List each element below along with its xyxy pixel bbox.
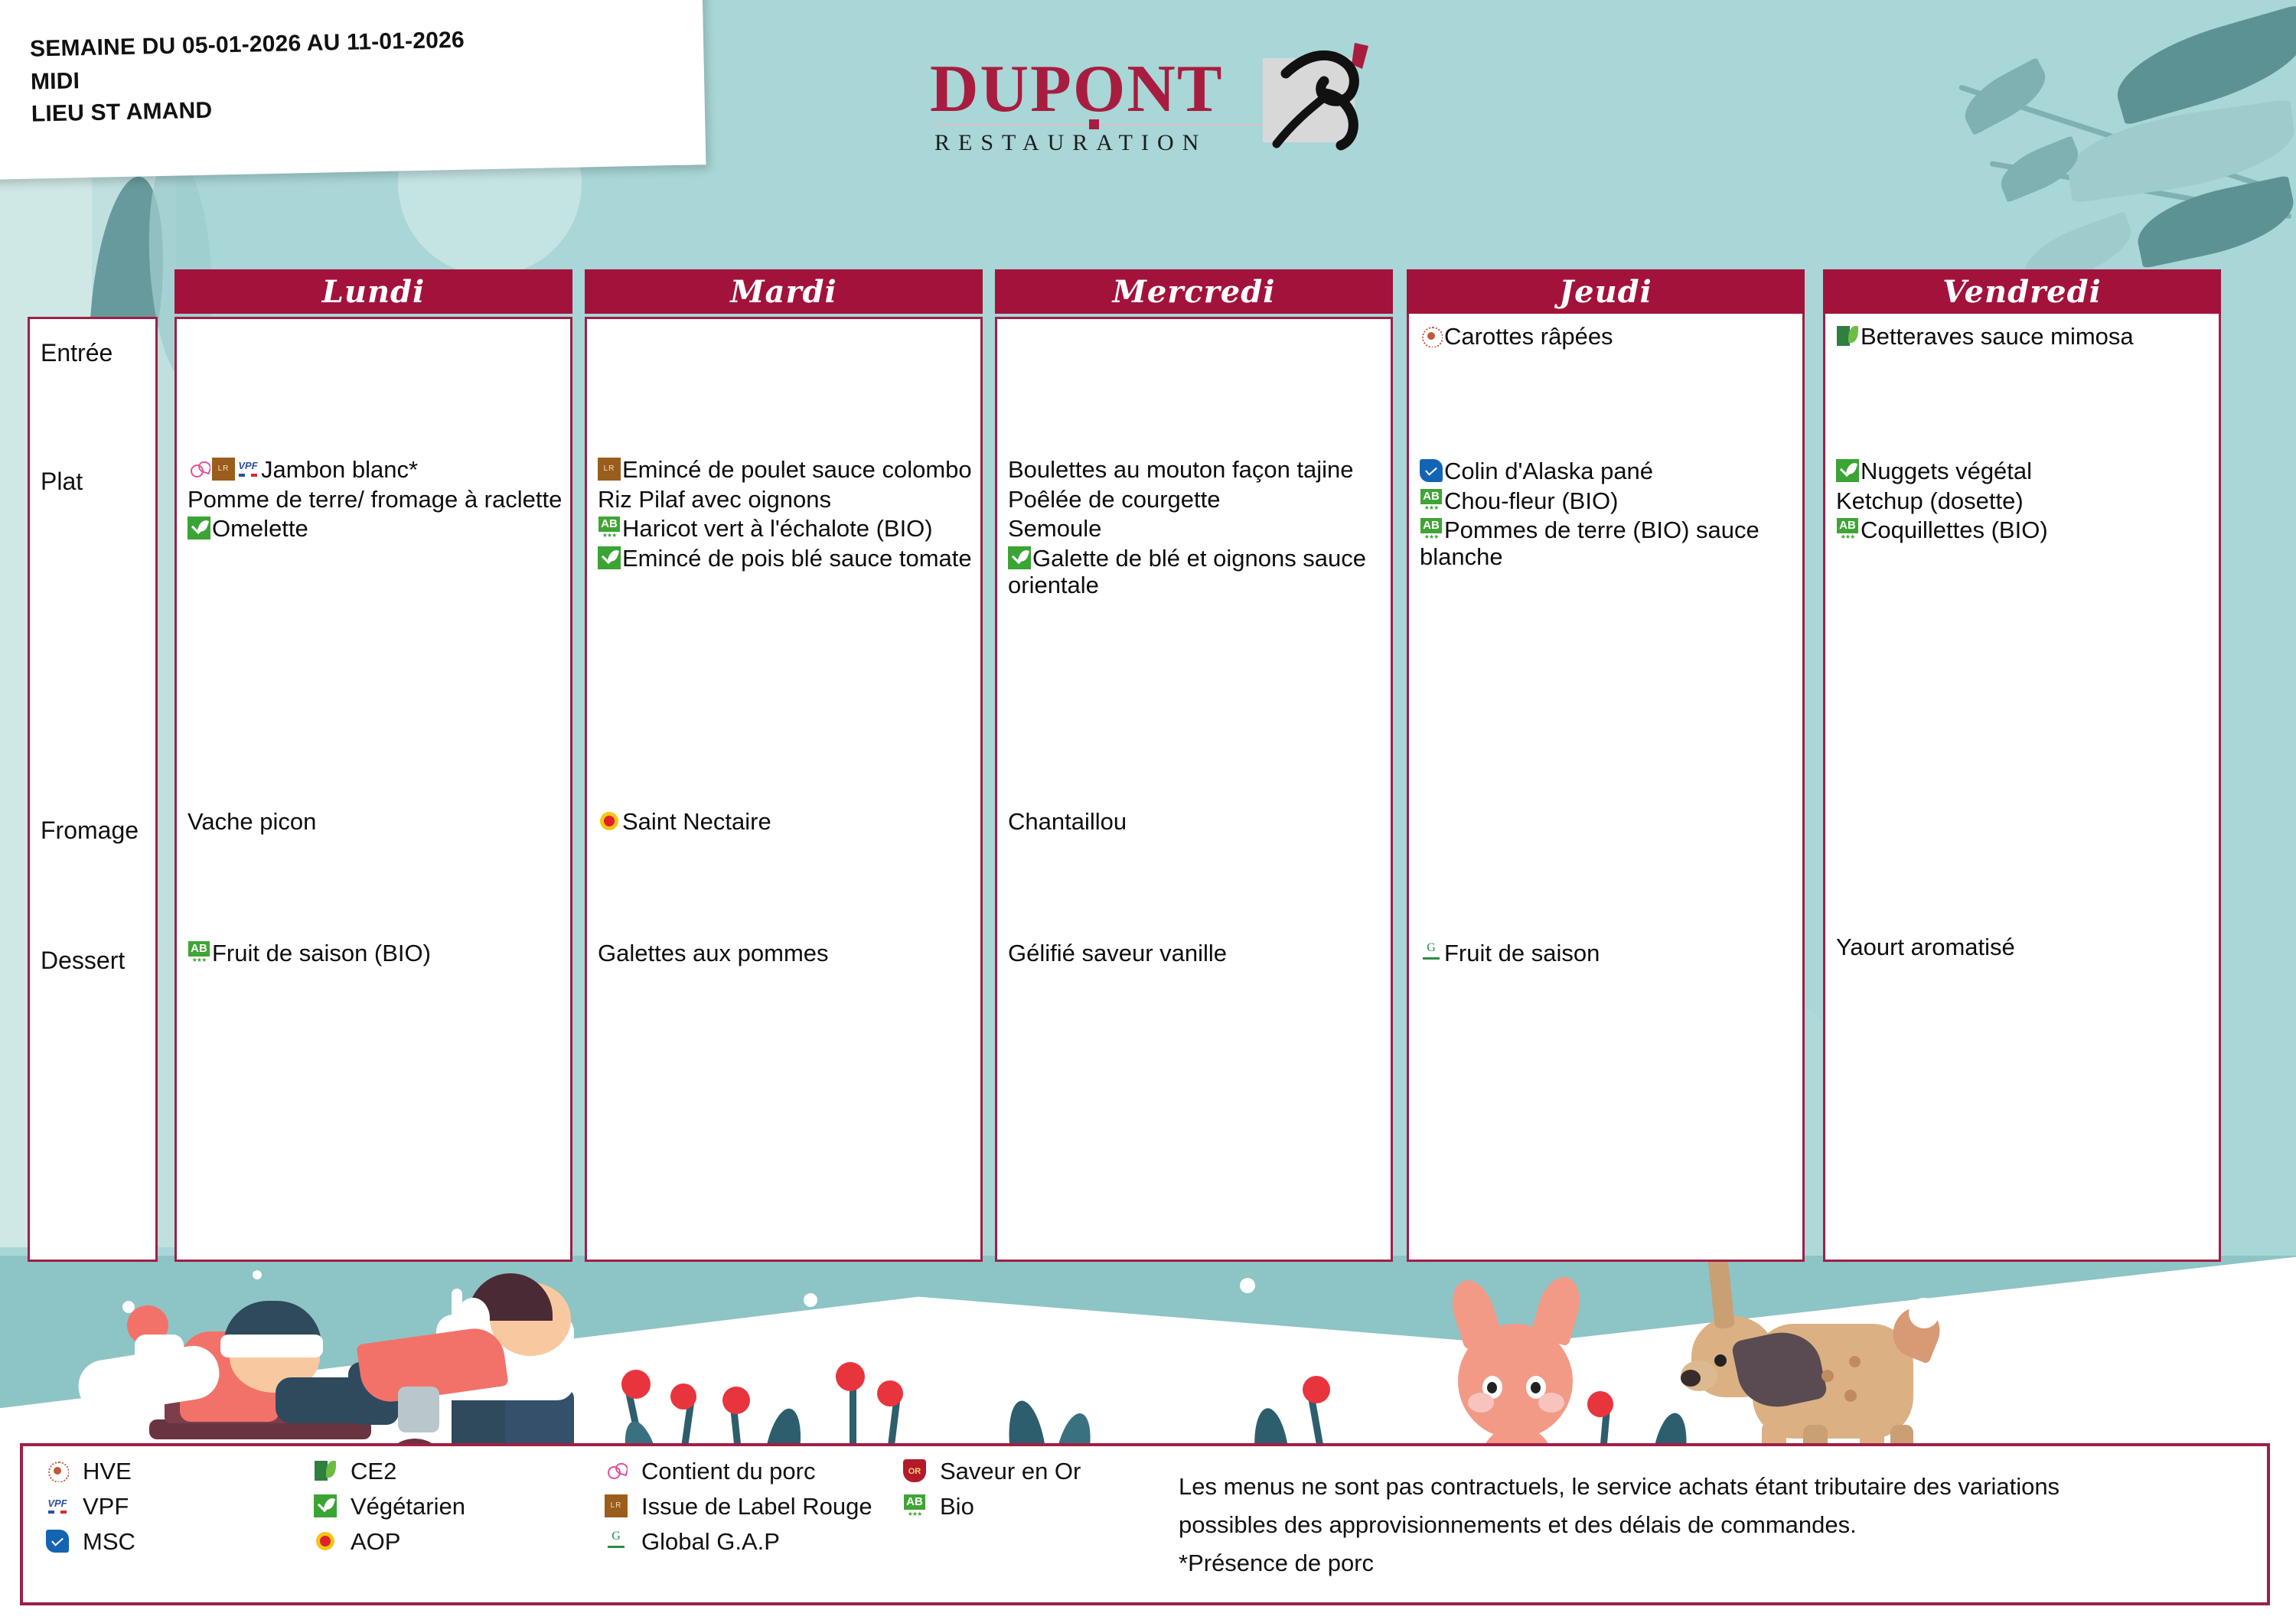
- legend-column-4: Saveur en OrBio: [903, 1457, 1156, 1527]
- vpf-icon: [236, 458, 259, 481]
- msc-icon: [1420, 459, 1443, 482]
- dish-label: Riz Pilaf avec oignons: [598, 486, 831, 513]
- bio-icon: [1836, 518, 1859, 541]
- day-header-label: Mercredi: [1113, 274, 1276, 310]
- dish-label: Fruit de saison (BIO): [212, 940, 431, 966]
- legend-label: Bio: [940, 1492, 974, 1521]
- menu-poster: SEMAINE DU 05-01-2026 AU 11-01-2026 MIDI…: [0, 0, 2296, 1623]
- dish-label: Galettes aux pommes: [598, 940, 829, 966]
- dish-label: Jambon blanc*: [261, 456, 418, 483]
- legend-row: Végétarien: [314, 1492, 605, 1521]
- msc-icon: [46, 1530, 69, 1553]
- dish-item: Fruit de saison (BIO): [188, 940, 563, 967]
- hve-icon: [1420, 324, 1443, 347]
- dish-item: Carottes râpées: [1420, 324, 1795, 350]
- dish-label: Semoule: [1008, 515, 1101, 542]
- day-column-lundi: Jambon blanc*Pomme de terre/ fromage à r…: [174, 317, 572, 1262]
- bio-icon: [1420, 489, 1443, 512]
- legend-row: Contient du porc: [605, 1457, 911, 1486]
- section-dessert: Fruit de saison (BIO): [188, 940, 563, 970]
- section-dessert: Galettes aux pommes: [598, 940, 973, 970]
- section-plat: Colin d'Alaska panéChou-fleur (BIO)Pomme…: [1420, 458, 1795, 574]
- section-plat: Jambon blanc*Pomme de terre/ fromage à r…: [188, 457, 563, 546]
- dish-label: Vache picon: [188, 808, 316, 835]
- dish-label: Coquillettes (BIO): [1861, 517, 2048, 543]
- legend-label: MSC: [83, 1527, 135, 1556]
- dish-label: Colin d'Alaska pané: [1444, 458, 1653, 484]
- legend-label: HVE: [83, 1457, 132, 1486]
- day-header-label: Mardi: [730, 274, 837, 310]
- dish-item: Emincé de poulet sauce colombo: [598, 457, 973, 484]
- row-label-dessert: Dessert: [41, 947, 125, 975]
- ce2-icon: [1836, 324, 1859, 347]
- dish-item: Saint Nectaire: [598, 809, 973, 836]
- day-header-mardi: Mardi: [585, 269, 983, 314]
- logo-runner-icon: [1240, 38, 1385, 153]
- dish-item: Haricot vert à l'échalote (BIO): [598, 516, 973, 543]
- dish-label: Ketchup (dosette): [1836, 487, 2024, 514]
- legend-row: Saveur en Or: [903, 1457, 1156, 1486]
- dish-label: Chantaillou: [1008, 808, 1127, 835]
- dish-item: Betteraves sauce mimosa: [1836, 324, 2211, 350]
- dish-label: Chou-fleur (BIO): [1444, 487, 1618, 514]
- day-header-vendredi: Vendredi: [1823, 269, 2221, 314]
- section-fromage: Vache picon: [188, 809, 563, 839]
- logo-dot: [1089, 119, 1099, 129]
- legend-column-3: Contient du porcIssue de Label RougeGlob…: [605, 1457, 911, 1562]
- dish-item: Pomme de terre/ fromage à raclette: [188, 487, 563, 513]
- dish-label: Nuggets végétal: [1861, 458, 2032, 484]
- disclaimer-text: Les menus ne sont pas contractuels, le s…: [1179, 1468, 2250, 1583]
- dish-item: Ketchup (dosette): [1836, 488, 2211, 515]
- section-entree: Betteraves sauce mimosa: [1836, 324, 2211, 354]
- vegetarien-icon: [1836, 459, 1859, 482]
- global-gap-icon: [605, 1530, 628, 1553]
- legend-row: AOP: [314, 1527, 605, 1556]
- dish-label: Betteraves sauce mimosa: [1861, 323, 2134, 350]
- section-dessert: Gélifié saveur vanille: [1008, 940, 1383, 970]
- disclaimer-line-2: possibles des approvisionnements et des …: [1179, 1506, 2250, 1544]
- dish-label: Carottes râpées: [1444, 323, 1613, 350]
- ce2-icon: [314, 1459, 337, 1482]
- global-gap-icon: [1420, 941, 1443, 964]
- legend-row: CE2: [314, 1457, 605, 1486]
- day-header-label: Lundi: [322, 274, 425, 310]
- day-header-jeudi: Jeudi: [1407, 269, 1805, 314]
- dish-label: Fruit de saison: [1444, 940, 1600, 966]
- legend-label: VPF: [83, 1492, 129, 1521]
- legend-label: Global G.A.P: [641, 1527, 780, 1556]
- dish-item: Chou-fleur (BIO): [1420, 488, 1795, 515]
- dish-label: Yaourt aromatisé: [1836, 934, 2015, 960]
- legend-row: VPF: [46, 1492, 298, 1521]
- dish-item: Chantaillou: [1008, 809, 1383, 836]
- bio-icon: [1420, 518, 1443, 541]
- section-dessert: Fruit de saison: [1420, 940, 1795, 970]
- legend-column-2: CE2VégétarienAOP: [314, 1457, 605, 1562]
- legend-label: AOP: [351, 1527, 400, 1556]
- dish-label: Pomme de terre/ fromage à raclette: [188, 486, 562, 513]
- bio-icon: [903, 1494, 926, 1517]
- section-plat: Boulettes au mouton façon tajinePoêlée d…: [1008, 457, 1383, 602]
- label-rouge-icon: [605, 1494, 628, 1517]
- dish-label: Galette de blé et oignons sauce oriental…: [1008, 545, 1366, 598]
- logo-divider: [934, 124, 1264, 125]
- day-column-jeudi: Carottes râpées Colin d'Alaska panéChou-…: [1407, 311, 1805, 1262]
- section-dessert: Yaourt aromatisé: [1836, 934, 2211, 964]
- day-header-label: Vendredi: [1942, 274, 2102, 310]
- dupont-restauration-logo: DUPONT RESTAURATION: [930, 44, 1389, 152]
- row-label-column: Entrée Plat Fromage Dessert: [28, 317, 158, 1262]
- legend-label: CE2: [351, 1457, 396, 1486]
- porc-icon: [605, 1459, 628, 1482]
- legend-label: Contient du porc: [641, 1457, 815, 1486]
- day-header-lundi: Lundi: [174, 269, 572, 314]
- vpf-icon: [46, 1494, 69, 1517]
- dish-item: Jambon blanc*: [188, 457, 563, 484]
- section-fromage: Chantaillou: [1008, 809, 1383, 839]
- dish-item: Pommes de terre (BIO) sauce blanche: [1420, 517, 1795, 570]
- legend-row: Bio: [903, 1492, 1156, 1521]
- disclaimer-line-1: Les menus ne sont pas contractuels, le s…: [1179, 1468, 2250, 1506]
- vegetarien-icon: [598, 546, 621, 569]
- dish-item: Colin d'Alaska pané: [1420, 458, 1795, 485]
- day-column-vendredi: Betteraves sauce mimosa Nuggets végétalK…: [1823, 311, 2221, 1262]
- dish-label: Emincé de pois blé sauce tomate: [622, 545, 972, 572]
- day-header-mercredi: Mercredi: [995, 269, 1393, 314]
- aop-icon: [314, 1530, 337, 1553]
- aop-icon: [598, 810, 621, 833]
- legend-panel: HVEVPFMSC CE2VégétarienAOP Contient du p…: [20, 1443, 2270, 1605]
- title-card: SEMAINE DU 05-01-2026 AU 11-01-2026 MIDI…: [0, 0, 706, 180]
- logo-subtitle: RESTAURATION: [934, 130, 1207, 156]
- vegetarien-icon: [1008, 546, 1031, 569]
- legend-label: Végétarien: [351, 1492, 465, 1521]
- dish-item: Fruit de saison: [1420, 940, 1795, 967]
- row-label-plat: Plat: [41, 468, 83, 496]
- bio-icon: [598, 517, 621, 539]
- legend-row: Global G.A.P: [605, 1527, 911, 1556]
- dish-item: Omelette: [188, 516, 563, 543]
- hve-icon: [46, 1459, 69, 1482]
- saveur-en-or-icon: [903, 1459, 926, 1482]
- section-fromage: Saint Nectaire: [598, 809, 973, 839]
- vegetarien-icon: [188, 517, 210, 539]
- dish-item: Poêlée de courgette: [1008, 487, 1383, 513]
- dish-label: Pommes de terre (BIO) sauce blanche: [1420, 517, 1760, 570]
- dish-label: Gélifié saveur vanille: [1008, 940, 1227, 966]
- dish-label: Saint Nectaire: [622, 808, 771, 835]
- dish-label: Emincé de poulet sauce colombo: [622, 456, 972, 483]
- legend-row: MSC: [46, 1527, 298, 1556]
- section-plat: Emincé de poulet sauce colomboRiz Pilaf …: [598, 457, 973, 575]
- row-label-fromage: Fromage: [41, 816, 139, 845]
- label-rouge-icon: [212, 458, 235, 481]
- dish-item: Riz Pilaf avec oignons: [598, 487, 973, 513]
- logo-wordmark: DUPONT: [930, 51, 1224, 128]
- dish-item: Boulettes au mouton façon tajine: [1008, 457, 1383, 484]
- label-rouge-icon: [598, 458, 621, 481]
- day-header-label: Jeudi: [1559, 274, 1652, 310]
- legend-column-1: HVEVPFMSC: [46, 1457, 298, 1562]
- section-entree: Carottes râpées: [1420, 324, 1795, 354]
- dish-item: Semoule: [1008, 516, 1383, 543]
- dish-item: Yaourt aromatisé: [1836, 934, 2211, 961]
- title-text-block: SEMAINE DU 05-01-2026 AU 11-01-2026 MIDI…: [30, 24, 466, 132]
- legend-row: HVE: [46, 1457, 298, 1486]
- disclaimer-line-3: *Présence de porc: [1179, 1544, 2250, 1582]
- day-column-mardi: Emincé de poulet sauce colomboRiz Pilaf …: [585, 317, 983, 1262]
- dish-label: Boulettes au mouton façon tajine: [1008, 456, 1354, 483]
- dish-item: Galette de blé et oignons sauce oriental…: [1008, 546, 1383, 598]
- legend-row: Issue de Label Rouge: [605, 1492, 911, 1521]
- row-label-entree: Entrée: [41, 339, 113, 367]
- dish-item: Coquillettes (BIO): [1836, 517, 2211, 544]
- legend-label: Saveur en Or: [940, 1457, 1081, 1486]
- dish-label: Omelette: [212, 515, 308, 542]
- dish-item: Emincé de pois blé sauce tomate: [598, 546, 973, 572]
- porc-icon: [188, 458, 210, 481]
- dish-item: Vache picon: [188, 809, 563, 836]
- day-column-mercredi: Boulettes au mouton façon tajinePoêlée d…: [995, 317, 1393, 1262]
- vegetarien-icon: [314, 1494, 337, 1517]
- dish-item: Gélifié saveur vanille: [1008, 940, 1383, 967]
- legend-label: Issue de Label Rouge: [641, 1492, 872, 1521]
- dish-item: Nuggets végétal: [1836, 458, 2211, 485]
- dish-label: Haricot vert à l'échalote (BIO): [622, 515, 933, 542]
- dish-item: Galettes aux pommes: [598, 940, 973, 967]
- section-plat: Nuggets végétalKetchup (dosette)Coquille…: [1836, 458, 2211, 547]
- dish-label: Poêlée de courgette: [1008, 486, 1221, 513]
- bio-icon: [188, 941, 210, 964]
